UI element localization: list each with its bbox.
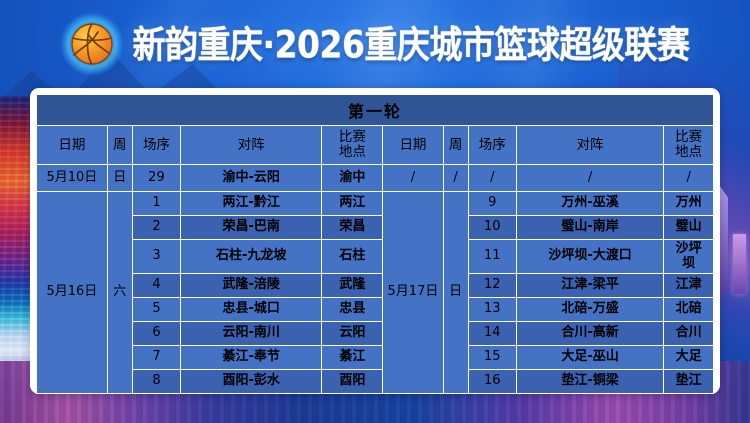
cell-venue-right-line1: 沙坪 — [665, 242, 712, 256]
cell-match-left: 云阳-南川 — [181, 322, 322, 346]
cell-venue-left: 云阳 — [322, 322, 383, 346]
cell-venue-left: 石柱 — [322, 240, 383, 274]
background-building-3 — [733, 234, 746, 294]
cell-match-left: 石柱-九龙坡 — [181, 240, 322, 274]
cell-venue-right-line2: 坝 — [665, 257, 712, 271]
table-row: 4 武隆-涪陵 武隆 12 江津-梁平 江津 — [37, 274, 714, 298]
cell-venue-left: 酉阳 — [322, 370, 383, 394]
cell-venue-left: 忠县 — [322, 298, 383, 322]
cell-order-left: 4 — [132, 274, 180, 298]
cell-order-left: 5 — [132, 298, 180, 322]
table-row: 5 忠县-城口 忠县 13 北碚-万盛 北碚 — [37, 298, 714, 322]
col-header-match-right: 对阵 — [516, 126, 663, 165]
cell-order-left: 29 — [132, 165, 180, 192]
cell-order-left: 1 — [132, 192, 180, 216]
page-header: 新韵重庆·2026重庆城市篮球超级联赛 — [0, 0, 750, 88]
table-row: 5月10日 日 29 渝中-云阳 渝中 / / / / / — [37, 165, 714, 192]
cell-venue-left: 綦江 — [322, 346, 383, 370]
cell-venue-left: 武隆 — [322, 274, 383, 298]
cell-date-right: / — [383, 165, 443, 192]
basketball-icon — [70, 22, 114, 66]
cell-venue-right: 江津 — [664, 274, 714, 298]
cell-order-right: 10 — [468, 216, 516, 240]
col-header-week-right: 周 — [443, 126, 468, 165]
cell-match-left: 渝中-云阳 — [181, 165, 322, 192]
cell-order-right: / — [468, 165, 516, 192]
col-header-match-left: 对阵 — [181, 126, 322, 165]
col-header-order-left: 场序 — [132, 126, 180, 165]
table-row: 6 云阳-南川 云阳 14 合川-高新 合川 — [37, 322, 714, 346]
round-title-row: 第一轮 — [37, 95, 714, 126]
cell-match-left: 忠县-城口 — [181, 298, 322, 322]
cell-order-left: 7 — [132, 346, 180, 370]
col-header-week-left: 周 — [107, 126, 132, 165]
table-row: 7 綦江-奉节 綦江 15 大足-巫山 大足 — [37, 346, 714, 370]
cell-match-right: 大足-巫山 — [516, 346, 663, 370]
cell-match-right: / — [516, 165, 663, 192]
col-header-venue-left: 比赛 地点 — [322, 126, 383, 165]
schedule-card: 第一轮 日期 周 场序 对阵 比赛 地点 日期 周 场序 对阵 比赛 地点 — [30, 88, 720, 394]
cell-venue-left: 两江 — [322, 192, 383, 216]
col-header-venue-right: 比赛 地点 — [664, 126, 714, 165]
table-row: 8 酉阳-彭水 酉阳 16 垫江-铜梁 垫江 — [37, 370, 714, 394]
schedule-table: 第一轮 日期 周 场序 对阵 比赛 地点 日期 周 场序 对阵 比赛 地点 — [36, 94, 714, 394]
cell-match-right: 万州-巫溪 — [516, 192, 663, 216]
cell-week-right: 日 — [443, 192, 468, 394]
cell-order-right: 15 — [468, 346, 516, 370]
cell-venue-right: 大足 — [664, 346, 714, 370]
cell-order-left: 8 — [132, 370, 180, 394]
cell-order-left: 2 — [132, 216, 180, 240]
cell-date-left: 5月16日 — [37, 192, 108, 394]
cell-order-left: 3 — [132, 240, 180, 274]
cell-match-right: 璧山-南岸 — [516, 216, 663, 240]
round-title: 第一轮 — [37, 95, 714, 126]
cell-date-left: 5月10日 — [37, 165, 108, 192]
cell-venue-right: 北碚 — [664, 298, 714, 322]
cell-match-left: 武隆-涪陵 — [181, 274, 322, 298]
cell-order-right: 11 — [468, 240, 516, 274]
cell-match-left: 两江-黔江 — [181, 192, 322, 216]
cell-venue-right: 垫江 — [664, 370, 714, 394]
league-logo — [61, 13, 123, 75]
col-header-date-right: 日期 — [383, 126, 443, 165]
cell-order-right: 13 — [468, 298, 516, 322]
cell-order-right: 14 — [468, 322, 516, 346]
cell-venue-right: 合川 — [664, 322, 714, 346]
cell-week-right: / — [443, 165, 468, 192]
col-header-order-right: 场序 — [468, 126, 516, 165]
col-header-venue-left-line1: 比赛 — [323, 130, 381, 145]
table-row: 2 荣昌-巴南 荣昌 10 璧山-南岸 璧山 — [37, 216, 714, 240]
table-row: 5月16日 六 1 两江-黔江 两江 5月17日 日 9 万州-巫溪 万州 — [37, 192, 714, 216]
col-header-venue-right-line2: 地点 — [665, 145, 712, 160]
cell-match-right: 北碚-万盛 — [516, 298, 663, 322]
cell-week-left: 六 — [107, 192, 132, 394]
col-header-venue-left-line2: 地点 — [323, 145, 381, 160]
cell-venue-right: 璧山 — [664, 216, 714, 240]
cell-venue-left: 渝中 — [322, 165, 383, 192]
cell-match-right: 江津-梁平 — [516, 274, 663, 298]
cell-week-left: 日 — [107, 165, 132, 192]
cell-venue-right: 沙坪 坝 — [664, 240, 714, 274]
cell-match-left: 荣昌-巴南 — [181, 216, 322, 240]
cell-match-right: 沙坪坝-大渡口 — [516, 240, 663, 274]
cell-match-left: 酉阳-彭水 — [181, 370, 322, 394]
cell-order-right: 16 — [468, 370, 516, 394]
page-title: 新韵重庆·2026重庆城市篮球超级联赛 — [133, 26, 690, 63]
cell-venue-right: 万州 — [664, 192, 714, 216]
table-row: 3 石柱-九龙坡 石柱 11 沙坪坝-大渡口 沙坪 坝 — [37, 240, 714, 274]
col-header-venue-right-line1: 比赛 — [665, 130, 712, 145]
col-header-date-left: 日期 — [37, 126, 108, 165]
cell-date-right: 5月17日 — [383, 192, 443, 394]
cell-order-left: 6 — [132, 322, 180, 346]
cell-venue-right: / — [664, 165, 714, 192]
column-header-row: 日期 周 场序 对阵 比赛 地点 日期 周 场序 对阵 比赛 地点 — [37, 126, 714, 165]
cell-venue-left: 荣昌 — [322, 216, 383, 240]
cell-order-right: 12 — [468, 274, 516, 298]
cell-order-right: 9 — [468, 192, 516, 216]
cell-match-left: 綦江-奉节 — [181, 346, 322, 370]
cell-match-right: 垫江-铜梁 — [516, 370, 663, 394]
cell-match-right: 合川-高新 — [516, 322, 663, 346]
